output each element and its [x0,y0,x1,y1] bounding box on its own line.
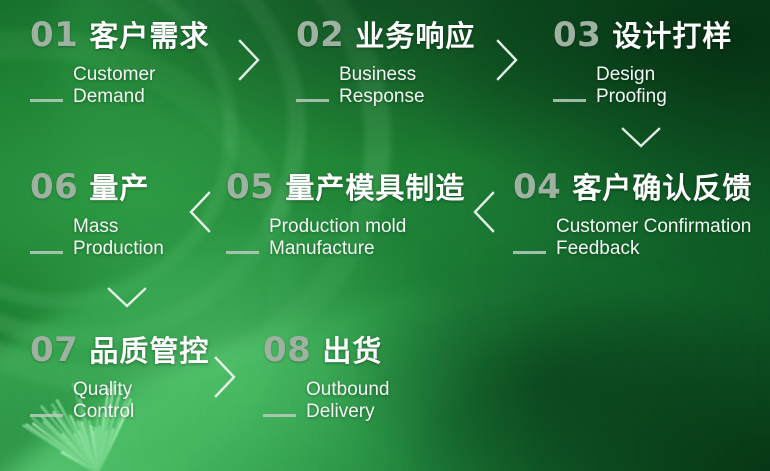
step-02-title-en-line2: Response [339,86,425,108]
step-08-heading: 08 出货 [263,333,389,367]
chevron-right-icon-01-to-02 [237,38,263,82]
step-06-body: Mass Production [30,216,164,261]
step-01-title-en-line1: Customer [73,64,155,85]
step-07-title-en: Quality Control [73,379,134,424]
step-07-title-cn: 品质管控 [89,337,209,366]
step-05-title-en-line1: Production mold [269,216,406,237]
step-08-title-en: Outbound Delivery [306,379,389,424]
step-04-title-cn: 客户确认反馈 [572,174,752,203]
step-03-number: 03 [553,18,601,52]
step-05-heading: 05 量产模具制造 [226,170,465,204]
step-04-heading: 04 客户确认反馈 [513,170,752,204]
step-03-title-en-line1: Design [596,64,655,85]
step-03-dash [553,99,586,102]
step-05-dash [226,251,259,254]
step-05-title-en-line2: Manufacture [269,238,406,260]
step-04-dash [513,251,546,254]
step-02-title-en-line1: Business [339,64,416,85]
chevron-down-icon-06-to-07 [106,286,148,310]
step-06[interactable]: 06 量产 Mass Production [30,170,164,261]
step-05-body: Production mold Manufacture [226,216,465,261]
step-07-dash [30,414,63,417]
step-05[interactable]: 05 量产模具制造 Production mold Manufacture [226,170,465,261]
step-08-body: Outbound Delivery [263,379,389,424]
step-04[interactable]: 04 客户确认反馈 Customer Confirmation Feedback [513,170,752,261]
step-03-title-cn: 设计打样 [612,22,732,51]
step-02-dash [296,99,329,102]
step-06-title-en-line1: Mass [73,216,118,237]
step-05-title-en: Production mold Manufacture [269,216,406,261]
step-01-dash [30,99,63,102]
steps-container: 01 客户需求 Customer Demand 02 业务响应 Business [0,0,770,471]
step-03-title-en: Design Proofing [596,64,667,109]
step-04-title-en: Customer Confirmation Feedback [556,216,751,261]
process-flow-graphic: 01 客户需求 Customer Demand 02 业务响应 Business [0,0,770,471]
step-07-heading: 07 品质管控 [30,333,209,367]
step-05-number: 05 [226,170,274,204]
step-08-title-cn: 出货 [322,337,382,366]
step-08[interactable]: 08 出货 Outbound Delivery [263,333,389,424]
chevron-left-icon-05-to-06 [186,190,212,234]
step-06-title-en: Mass Production [73,216,164,261]
step-03-title-en-line2: Proofing [596,86,667,108]
step-07-title-en-line1: Quality [73,379,132,400]
chevron-down-icon-03-to-04 [620,126,662,150]
chevron-right-icon-02-to-03 [495,38,521,82]
step-01-heading: 01 客户需求 [30,18,209,52]
step-03[interactable]: 03 设计打样 Design Proofing [553,18,732,109]
step-04-title-en-line1: Customer Confirmation [556,216,751,237]
step-08-dash [263,414,296,417]
step-07-body: Quality Control [30,379,209,424]
step-03-heading: 03 设计打样 [553,18,732,52]
step-02-title-en: Business Response [339,64,425,109]
step-01-number: 01 [30,18,78,52]
step-01-title-en-line2: Demand [73,86,155,108]
step-03-body: Design Proofing [553,64,732,109]
step-02-body: Business Response [296,64,475,109]
step-05-title-cn: 量产模具制造 [285,174,465,203]
step-02[interactable]: 02 业务响应 Business Response [296,18,475,109]
chevron-right-icon-07-to-08 [213,355,239,399]
step-01[interactable]: 01 客户需求 Customer Demand [30,18,209,109]
step-06-heading: 06 量产 [30,170,164,204]
step-08-title-en-line1: Outbound [306,379,389,400]
step-06-dash [30,251,63,254]
step-04-number: 04 [513,170,561,204]
step-06-title-en-line2: Production [73,238,164,260]
step-06-number: 06 [30,170,78,204]
step-06-title-cn: 量产 [89,174,149,203]
step-02-title-cn: 业务响应 [355,22,475,51]
step-01-body: Customer Demand [30,64,209,109]
step-01-title-cn: 客户需求 [89,22,209,51]
chevron-left-icon-04-to-05 [470,190,496,234]
step-04-body: Customer Confirmation Feedback [513,216,752,261]
step-07-number: 07 [30,333,78,367]
step-04-title-en-line2: Feedback [556,238,751,260]
step-08-title-en-line2: Delivery [306,401,389,423]
step-01-title-en: Customer Demand [73,64,155,109]
step-02-heading: 02 业务响应 [296,18,475,52]
step-08-number: 08 [263,333,311,367]
step-07-title-en-line2: Control [73,401,134,423]
step-02-number: 02 [296,18,344,52]
step-07[interactable]: 07 品质管控 Quality Control [30,333,209,424]
